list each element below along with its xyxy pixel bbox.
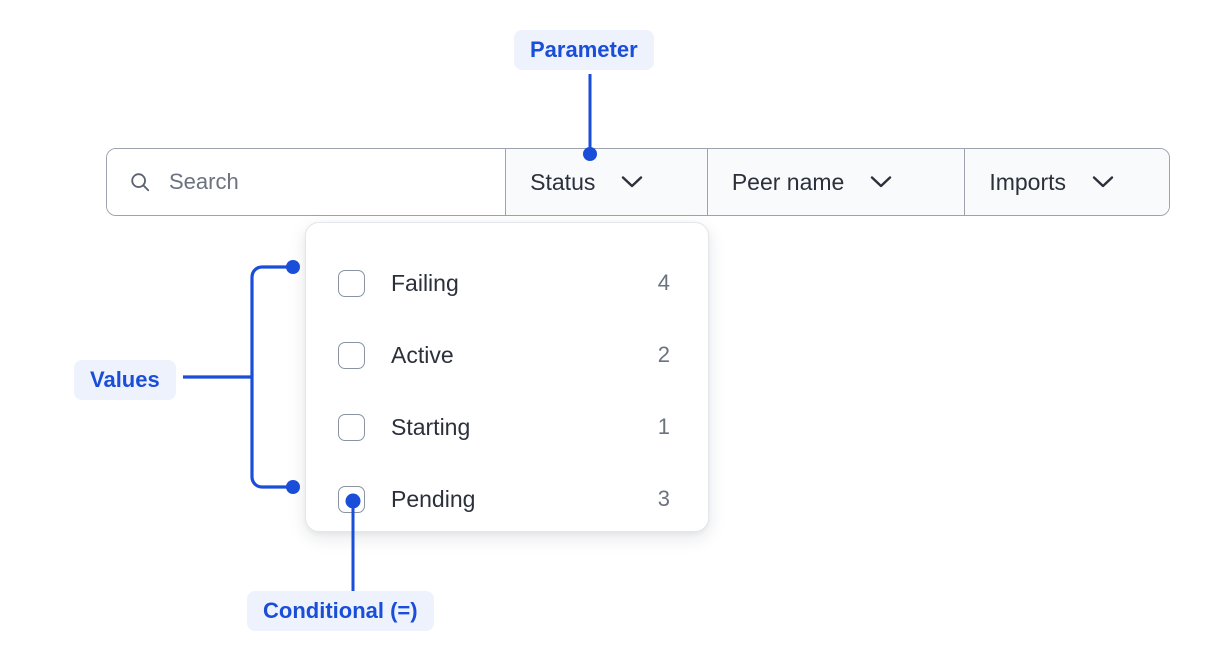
- peer-name-filter-button[interactable]: Peer name: [708, 149, 966, 215]
- annotated-filter-diagram: Status Peer name Imports Failing 4: [0, 0, 1224, 660]
- imports-filter-label: Imports: [989, 169, 1066, 196]
- dropdown-option-pending[interactable]: Pending 3: [306, 463, 708, 535]
- annotation-badge-conditional: Conditional (=): [247, 591, 434, 631]
- pending-count: 3: [654, 486, 670, 512]
- dropdown-option-failing[interactable]: Failing 4: [306, 247, 708, 319]
- pending-checkbox[interactable]: [338, 486, 365, 513]
- starting-count: 1: [654, 414, 670, 440]
- chevron-down-icon: [1092, 175, 1114, 189]
- values-top-dot: [286, 260, 300, 274]
- status-filter-label: Status: [530, 169, 595, 196]
- values-bracket: [252, 267, 293, 487]
- failing-checkbox[interactable]: [338, 270, 365, 297]
- filter-toolbar: Status Peer name Imports: [106, 148, 1170, 216]
- imports-filter-button[interactable]: Imports: [965, 149, 1169, 215]
- failing-label: Failing: [391, 270, 654, 297]
- active-checkbox[interactable]: [338, 342, 365, 369]
- chevron-down-icon: [870, 175, 892, 189]
- search-icon: [129, 171, 151, 193]
- chevron-down-icon: [621, 175, 643, 189]
- starting-label: Starting: [391, 414, 654, 441]
- active-count: 2: [654, 342, 670, 368]
- status-filter-button[interactable]: Status: [506, 149, 708, 215]
- search-field[interactable]: [107, 149, 506, 215]
- pending-label: Pending: [391, 486, 654, 513]
- active-label: Active: [391, 342, 654, 369]
- search-input[interactable]: [169, 169, 469, 195]
- annotation-badge-parameter: Parameter: [514, 30, 654, 70]
- dropdown-option-starting[interactable]: Starting 1: [306, 391, 708, 463]
- starting-checkbox[interactable]: [338, 414, 365, 441]
- dropdown-option-active[interactable]: Active 2: [306, 319, 708, 391]
- annotation-badge-values: Values: [74, 360, 176, 400]
- failing-count: 4: [654, 270, 670, 296]
- status-dropdown-panel: Failing 4 Active 2 Starting 1 Pending 3: [305, 222, 709, 532]
- values-bottom-dot: [286, 480, 300, 494]
- peer-name-filter-label: Peer name: [732, 169, 845, 196]
